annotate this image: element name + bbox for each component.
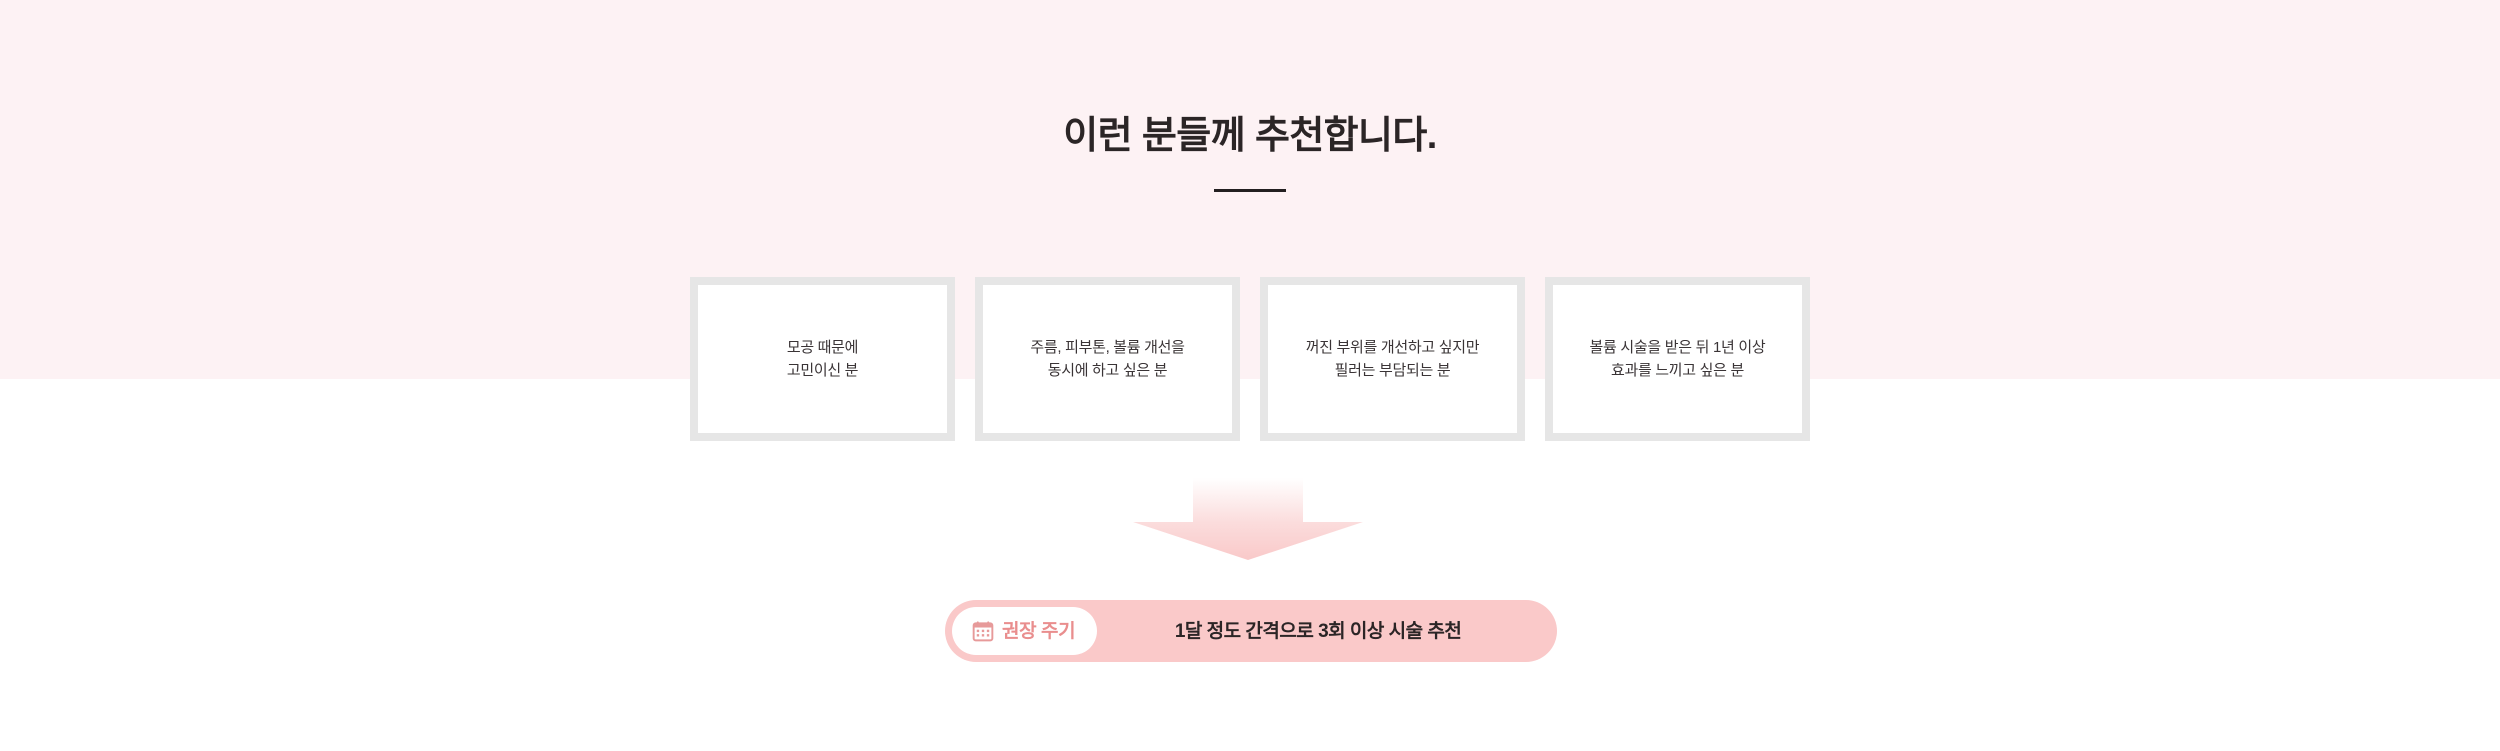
card-inner: 꺼진 부위를 개선하고 싶지만 필러는 부담되는 분 [1268, 285, 1517, 433]
calendar-icon [972, 620, 994, 642]
title-divider [1214, 189, 1286, 192]
recommendation-section: 이런 분들께 추천합니다. 모공 때문에 고민이신 분 주름, 피부톤, 볼륨 … [0, 0, 2500, 751]
badge-chip: 권장 주기 [952, 607, 1097, 655]
card-inner: 볼륨 시술을 받은 뒤 1년 이상 효과를 느끼고 싶은 분 [1553, 285, 1802, 433]
recommendation-card-list: 모공 때문에 고민이신 분 주름, 피부톤, 볼륨 개선을 동시에 하고 싶은 … [690, 277, 1810, 441]
badge-chip-label: 권장 주기 [1002, 622, 1075, 641]
card-inner: 모공 때문에 고민이신 분 [698, 285, 947, 433]
section-heading: 이런 분들께 추천합니다. [0, 113, 2500, 192]
recommended-cycle-badge: 권장 주기 1달 정도 간격으로 3회 이상 시술 추천 [945, 600, 1557, 662]
card-text: 주름, 피부톤, 볼륨 개선을 동시에 하고 싶은 분 [1024, 336, 1190, 383]
card-text: 꺼진 부위를 개선하고 싶지만 필러는 부담되는 분 [1300, 336, 1486, 383]
card-text: 볼륨 시술을 받은 뒤 1년 이상 효과를 느끼고 싶은 분 [1584, 336, 1772, 383]
recommendation-card: 꺼진 부위를 개선하고 싶지만 필러는 부담되는 분 [1260, 277, 1525, 441]
page-title: 이런 분들께 추천합니다. [0, 113, 2500, 161]
badge-description: 1달 정도 간격으로 3회 이상 시술 추천 [1097, 622, 1549, 641]
arrow-down-icon [1133, 478, 1363, 560]
card-inner: 주름, 피부톤, 볼륨 개선을 동시에 하고 싶은 분 [983, 285, 1232, 433]
recommendation-card: 모공 때문에 고민이신 분 [690, 277, 955, 441]
card-text: 모공 때문에 고민이신 분 [781, 336, 864, 383]
recommendation-card: 주름, 피부톤, 볼륨 개선을 동시에 하고 싶은 분 [975, 277, 1240, 441]
recommendation-card: 볼륨 시술을 받은 뒤 1년 이상 효과를 느끼고 싶은 분 [1545, 277, 1810, 441]
